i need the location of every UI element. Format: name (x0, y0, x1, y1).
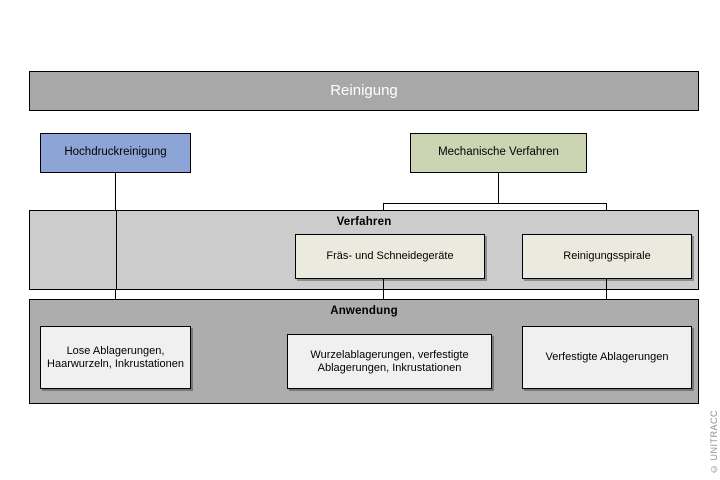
page-title: Reinigung (330, 82, 398, 100)
connector-mechanisch-stem (498, 173, 499, 203)
swimlane-verfahren: Verfahren Fräs- und Schneidegeräte Reini… (29, 210, 699, 290)
verfahren-label: Fräs- und Schneidegeräte (326, 250, 453, 263)
verfahren-box-fraes-und-schneidegeraete: Fräs- und Schneidegeräte (295, 234, 485, 279)
anwendung-box-lose-ablagerungen: Lose Ablagerungen, Haarwurzeln, Inkrusta… (40, 326, 191, 389)
method-box-hochdruckreinigung: Hochdruckreinigung (40, 133, 191, 173)
diagram-canvas: Reinigung Hochdruckreinigung Mechanische… (0, 0, 720, 480)
method-label: Hochdruckreinigung (64, 146, 166, 160)
swimlane-label-anwendung: Anwendung (30, 305, 698, 317)
anwendung-box-wurzelablagerungen: Wurzelablagerungen, verfestigte Ablageru… (287, 334, 492, 389)
method-box-mechanische-verfahren: Mechanische Verfahren (410, 133, 587, 173)
verfahren-label: Reinigungsspirale (563, 250, 650, 263)
diagram-title-bar: Reinigung (29, 71, 699, 111)
anwendung-label: Lose Ablagerungen, Haarwurzeln, Inkrusta… (41, 345, 190, 371)
connector-mechanisch-crossbar (383, 203, 607, 204)
copyright-watermark: © UNITRACC (709, 410, 719, 474)
anwendung-label: Wurzelablagerungen, verfestigte Ablageru… (288, 349, 491, 375)
method-label: Mechanische Verfahren (438, 146, 559, 160)
anwendung-box-verfestigte-ablagerungen: Verfestigte Ablagerungen (522, 326, 692, 389)
swimlane-label-verfahren: Verfahren (30, 216, 698, 228)
anwendung-label: Verfestigte Ablagerungen (546, 351, 669, 364)
verfahren-box-reinigungsspirale: Reinigungsspirale (522, 234, 692, 279)
swimlane-anwendung: Anwendung Lose Ablagerungen, Haarwurzeln… (29, 299, 699, 404)
